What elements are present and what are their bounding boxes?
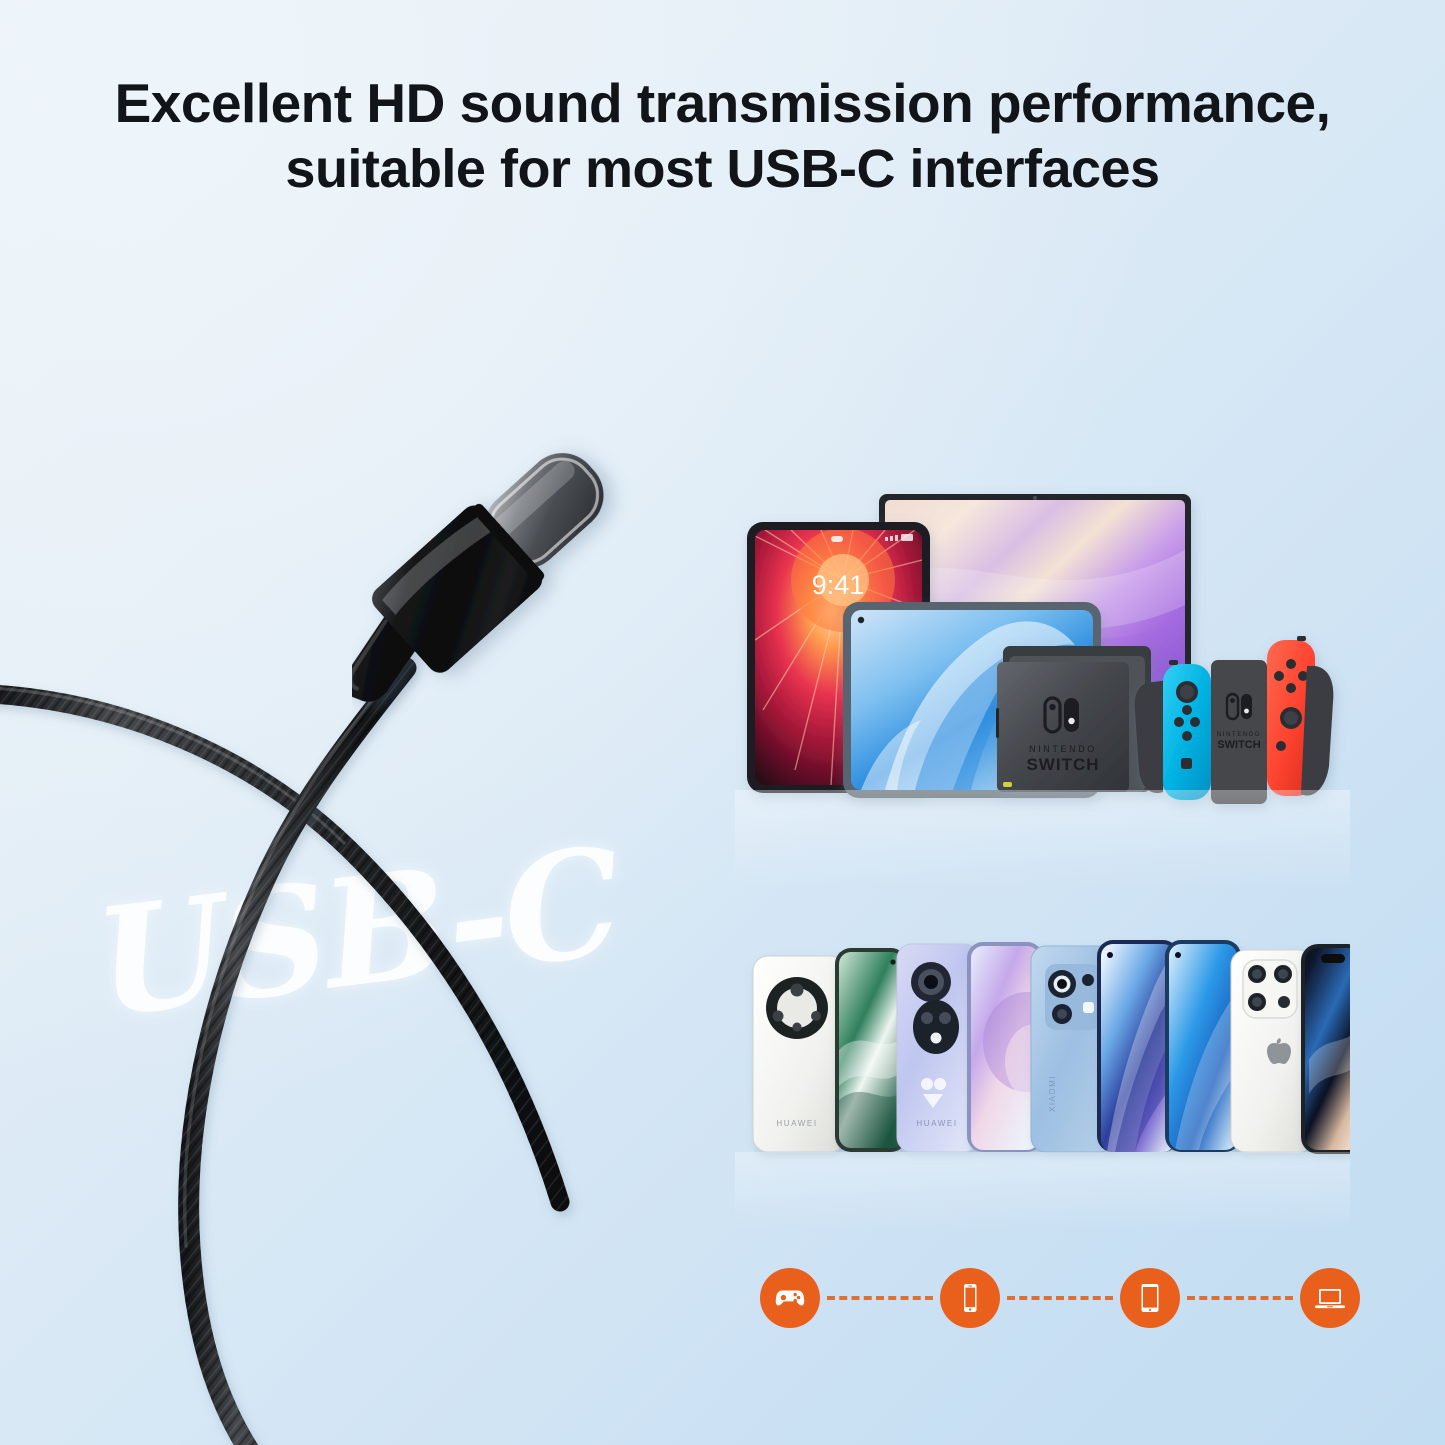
- phone-green-screen: [835, 948, 907, 1152]
- ipad-clock: 9:41: [812, 570, 865, 600]
- phone-device-group: HUAWEI HUAWEI: [735, 930, 1350, 1230]
- phone-iphone-14-pro-front: [1301, 944, 1350, 1154]
- headline-line-1: Excellent HD sound transmission performa…: [0, 70, 1445, 137]
- phone-huawei-nova-lavender: HUAWEI: [897, 944, 979, 1152]
- product-feature-banner: Excellent HD sound transmission performa…: [0, 0, 1445, 1445]
- huawei-nova-brand: HUAWEI: [916, 1119, 957, 1128]
- laptop-icon[interactable]: [1300, 1268, 1360, 1328]
- gamepad-icon[interactable]: [760, 1268, 820, 1328]
- page-title: Excellent HD sound transmission performa…: [0, 70, 1445, 203]
- strip-connector-2: [1007, 1296, 1113, 1300]
- grip-logo-nintendo: NINTENDO: [1217, 732, 1261, 738]
- xiaomi-brand: XIAOMI: [1048, 1075, 1057, 1112]
- phone-blue-screen: [1165, 940, 1241, 1152]
- grip-logo-switch: SWITCH: [1217, 739, 1260, 751]
- tablet-device-group: 9:41: [735, 470, 1350, 890]
- usb-c-connector: [352, 394, 682, 714]
- tablet-icon[interactable]: [1120, 1268, 1180, 1328]
- dynamic-island: [1321, 954, 1345, 963]
- dock-logo-switch: SWITCH: [1026, 755, 1099, 774]
- compatibility-strip: [760, 1248, 1360, 1348]
- strip-connector-1: [827, 1296, 933, 1300]
- phone-iphone-white-back: [1231, 950, 1313, 1152]
- huawei-mate-brand: HUAWEI: [776, 1119, 817, 1128]
- headline-line-2: suitable for most USB-C interfaces: [0, 137, 1445, 203]
- dock-logo-nintendo: NINTENDO: [1029, 744, 1097, 754]
- smartphone-icon[interactable]: [940, 1268, 1000, 1328]
- nintendo-switch-dock: NINTENDO SWITCH: [996, 646, 1151, 792]
- strip-connector-3: [1187, 1296, 1293, 1300]
- phone-huawei-mate-white: HUAWEI: [753, 956, 845, 1152]
